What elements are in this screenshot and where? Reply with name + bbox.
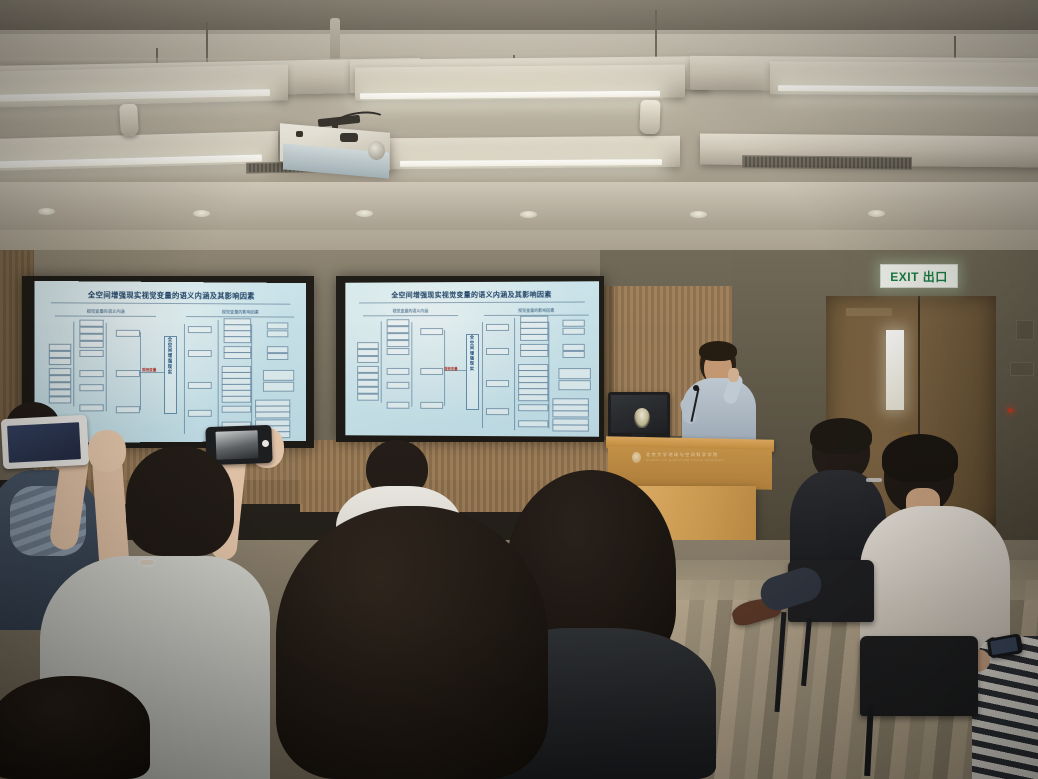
presenter-hand — [728, 368, 739, 382]
slide-right-heading-2: 视觉变量的影响因素 — [484, 308, 589, 314]
door-vision-panel — [886, 330, 904, 410]
slide-node — [79, 334, 103, 341]
slide-node — [357, 380, 379, 387]
ceiling-air-vent — [742, 155, 912, 170]
slide-group-node — [486, 348, 509, 355]
slide-leaf-node — [558, 368, 590, 379]
slide-node — [518, 394, 548, 401]
slide-node — [49, 382, 71, 389]
ceiling-upper-shadow — [0, 0, 1038, 34]
slide-node — [222, 406, 252, 413]
slide-leaf-node — [267, 353, 288, 359]
slide-node — [49, 389, 71, 396]
slide-node — [387, 326, 410, 333]
presenter-hair — [699, 341, 737, 361]
slide-node — [222, 396, 252, 403]
slide-leaf-node — [552, 410, 588, 417]
slide-node — [387, 348, 410, 355]
door-push-plate — [846, 308, 892, 316]
lecture-hall-photo: EXIT 出口 全空间增强现实视觉变量的语义内涵及其影响因素 视觉变量的语义内涵… — [0, 0, 1038, 779]
slide-group-node — [420, 402, 443, 409]
microphone-head — [693, 385, 699, 391]
slide-group-node — [116, 406, 140, 413]
audience-head-foreground-left — [0, 676, 150, 779]
slide-node — [49, 358, 71, 365]
slide-node — [49, 368, 71, 375]
slide-leaf-node — [263, 370, 294, 381]
wall-switch-plate[interactable] — [1016, 320, 1034, 340]
audience-head-foreground-center — [276, 506, 548, 779]
podium-institution-line2: SCHOOL OF EARTH AND SPACE SCIENCES — [646, 459, 724, 462]
desk-lamp-glow — [634, 408, 650, 428]
slide-node — [49, 375, 71, 382]
slide-node — [387, 382, 410, 389]
slide-group-node — [188, 326, 212, 333]
slide-center-box: 全空间增强现实 — [164, 336, 177, 414]
slide-node — [387, 319, 410, 326]
ceiling-soffit — [0, 182, 1038, 234]
slide-title: 全空间增强现实视觉变量的语义内涵及其影响因素 — [34, 290, 305, 302]
slide-node — [79, 320, 103, 327]
slide-leaf-node — [552, 424, 588, 431]
smartphone-left-screen[interactable] — [7, 422, 81, 463]
slide-node — [387, 333, 410, 340]
slide-group-node — [116, 370, 140, 377]
slide-group-node — [420, 328, 443, 335]
slide-node — [49, 344, 71, 351]
bracelet — [140, 560, 154, 565]
slide-leaf-node — [562, 351, 584, 358]
slide-node — [357, 342, 379, 349]
slide-node — [49, 351, 71, 358]
slide-node — [520, 350, 548, 357]
slide-node — [49, 396, 71, 403]
fire-alarm-indicator — [1008, 408, 1013, 413]
ceiling-speaker — [119, 104, 139, 137]
slide-node — [357, 366, 379, 373]
slide-node — [357, 394, 379, 401]
slide-node — [357, 387, 379, 394]
slide-node — [224, 352, 252, 358]
slide-red-label: 视觉变量 — [142, 368, 156, 373]
slide-node — [518, 404, 548, 411]
slide-node — [79, 404, 103, 411]
slide-node — [387, 340, 410, 347]
right-projection-screen[interactable]: 全空间增强现实视觉变量的语义内涵及其影响因素 视觉变量的语义内涵 视觉变量的影响… — [345, 281, 599, 436]
slide-node — [79, 350, 103, 357]
slide-node — [224, 336, 252, 343]
eyeglasses — [866, 478, 882, 482]
wall-sign-plate — [1010, 362, 1034, 376]
slide-title-2: 全空间增强现实视觉变量的语义内涵及其影响因素 — [345, 289, 599, 300]
ceiling-downlight — [868, 210, 885, 217]
podium-institution-line1: 北京大学地球与空间科学学院 — [646, 452, 719, 458]
audience-body-white-shirt — [860, 506, 1010, 656]
slide-node — [387, 402, 410, 409]
ceiling-downlight — [690, 211, 707, 218]
slide-leaf-node — [267, 330, 288, 336]
slide-right-heading: 视觉变量的影响因素 — [186, 309, 294, 315]
slide-leaf-node — [255, 411, 290, 418]
camera-shutter-button[interactable] — [262, 440, 269, 447]
ceiling-downlight — [520, 211, 537, 218]
slide-red-label-2: 视觉变量 — [444, 366, 458, 371]
slide-node — [79, 327, 103, 334]
slide-node — [357, 373, 379, 380]
slide-group-node — [188, 410, 212, 417]
slide-node — [357, 349, 379, 356]
slide-node — [357, 356, 379, 363]
audience-hair — [810, 418, 872, 454]
slide-node — [79, 384, 103, 391]
slide-group-node — [188, 382, 212, 389]
ceiling-downlight — [38, 208, 55, 215]
ceiling-downlight — [193, 210, 210, 217]
slide-group-node — [486, 408, 509, 415]
exit-sign: EXIT 出口 — [880, 264, 958, 288]
exit-sign-label: EXIT 出口 — [890, 268, 948, 285]
slide-group-node — [486, 324, 509, 331]
projector-connector — [340, 133, 358, 142]
slide-node — [79, 370, 103, 377]
projector-lens — [368, 141, 385, 160]
audience-hair — [882, 434, 958, 482]
slide-left-heading: 视觉变量的语义内涵 — [55, 308, 156, 315]
slide-group-node — [188, 350, 212, 357]
smartphone-center-screen[interactable] — [216, 430, 259, 459]
ceiling-downlight — [356, 210, 373, 217]
slide-group-node — [116, 330, 140, 337]
slide-leaf-node — [562, 320, 584, 327]
ceiling-speaker — [639, 100, 660, 135]
slide-left-heading-2: 视觉变量的语义内涵 — [363, 308, 458, 314]
audience-head-mid-left — [126, 446, 234, 556]
slide-leaf-node — [558, 380, 590, 390]
hand-center-a — [88, 430, 126, 472]
projector-port — [296, 131, 303, 137]
slide-leaf-node — [562, 328, 584, 335]
slide-leaf-node — [562, 344, 584, 351]
chair-right-front[interactable] — [860, 636, 978, 716]
slide-node — [518, 420, 548, 427]
slide-center-box-2: 全空间增强现实 — [466, 334, 479, 410]
slide-group-node — [420, 368, 443, 375]
podium-emblem-icon — [632, 452, 641, 463]
slide-leaf-node — [263, 382, 294, 392]
slide-node — [387, 368, 410, 375]
slide-group-node — [486, 380, 509, 387]
slide-leaf-node — [267, 322, 288, 329]
slide-node — [520, 334, 548, 341]
slide-leaf-node — [267, 346, 288, 352]
slide-node — [79, 341, 103, 348]
ceiling-beam — [0, 64, 288, 107]
